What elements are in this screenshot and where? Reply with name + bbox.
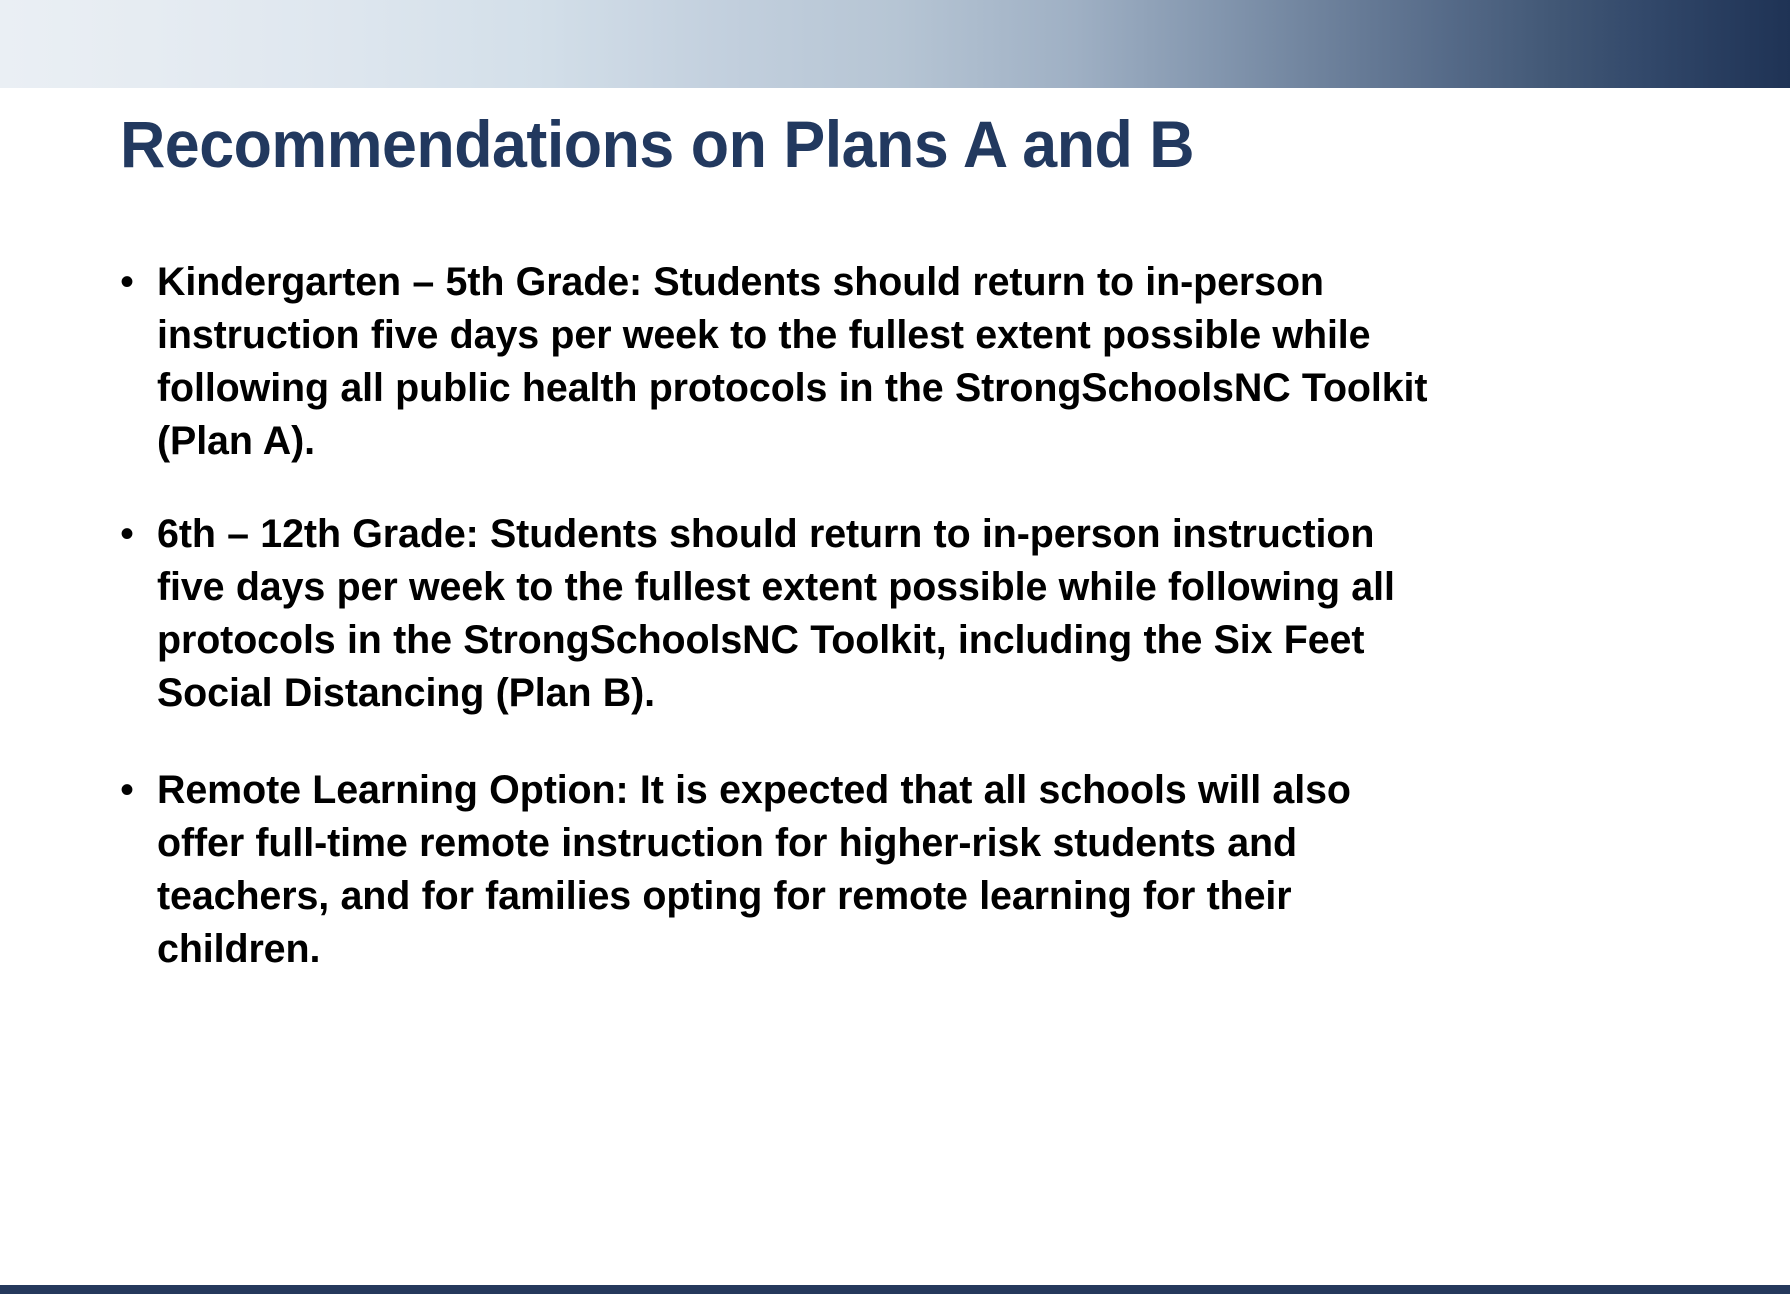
- bullet-text-remote-learning-option: Remote Learning Option: It is expected t…: [157, 764, 1383, 976]
- top-gradient-banner: [0, 0, 1790, 88]
- page-title: Recommendations on Plans A and B: [120, 104, 1602, 184]
- bottom-accent-bar: [0, 1285, 1790, 1294]
- bullet-text-kindergarten-5th-grade: Kindergarten – 5th Grade: Students shoul…: [157, 256, 1447, 468]
- slide: Recommendations on Plans A and B • Kinde…: [0, 0, 1790, 1294]
- list-item: • Kindergarten – 5th Grade: Students sho…: [110, 256, 1710, 468]
- bullet-dot-icon: •: [120, 764, 144, 817]
- bullet-dot-icon: •: [120, 256, 144, 309]
- list-item: • 6th – 12th Grade: Students should retu…: [110, 508, 1710, 720]
- list-item: • Remote Learning Option: It is expected…: [110, 764, 1710, 976]
- bullet-text-6th-12th-grade: 6th – 12th Grade: Students should return…: [157, 508, 1438, 720]
- bullet-list: • Kindergarten – 5th Grade: Students sho…: [110, 256, 1710, 976]
- title-area: Recommendations on Plans A and B: [120, 104, 1680, 190]
- bullet-dot-icon: •: [120, 508, 144, 561]
